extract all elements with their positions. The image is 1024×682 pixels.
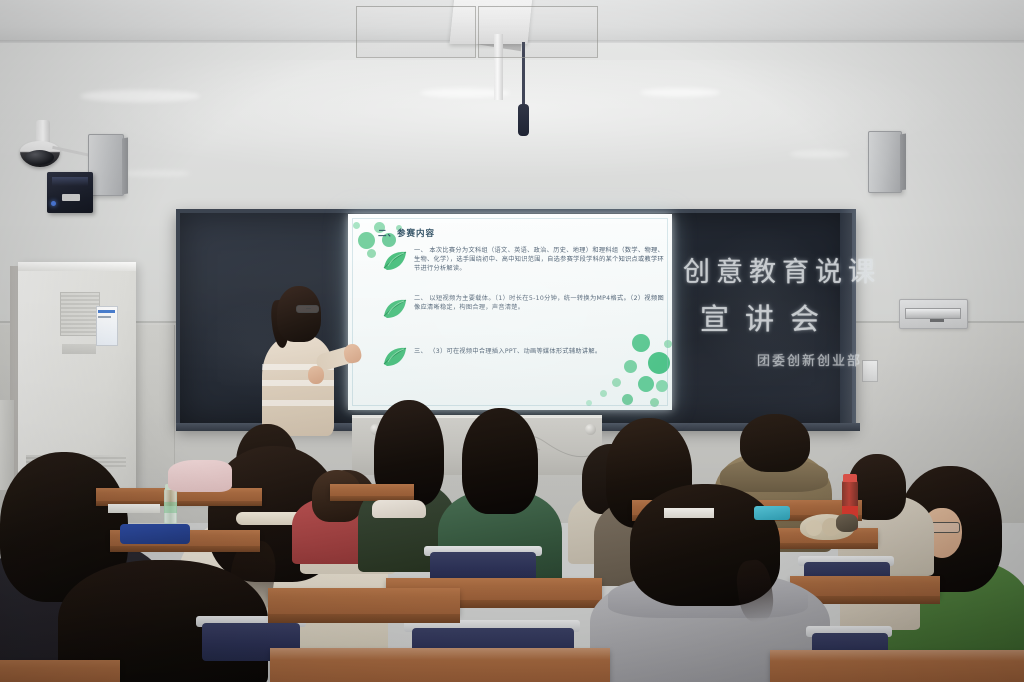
slide-bubbles-bottom-right: [562, 314, 672, 410]
bubble: [624, 360, 637, 373]
wall-reflection: [80, 90, 200, 102]
bubble: [664, 340, 672, 348]
desk[interactable]: [268, 588, 460, 614]
presenter-hair: [277, 286, 321, 342]
desk[interactable]: [790, 576, 940, 596]
blackboard-right-highlight: [840, 209, 856, 431]
presenter-torso: [262, 336, 334, 436]
av-control-box-label: [62, 194, 80, 201]
air-conditioner-pipe: [0, 400, 14, 490]
wall-reflection: [790, 150, 850, 158]
chalk-signature-line: 团委创新创业部: [757, 350, 862, 369]
leaf-icon: [382, 298, 408, 320]
chalk-title-line-2: 宣讲会: [700, 296, 835, 338]
bubble: [600, 390, 607, 397]
bubble: [353, 222, 360, 229]
bubble: [586, 400, 592, 406]
slide-paragraph-2: 二、 以短视频为主要载体。（1）时长在5-10分钟，统一转换为MP4格式。（2）…: [414, 294, 664, 312]
backpack[interactable]: [120, 524, 190, 544]
av-control-box-sheen: [52, 177, 88, 186]
notebook[interactable]: [664, 508, 714, 518]
desk[interactable]: [0, 660, 120, 682]
wall-light-switch[interactable]: [862, 360, 878, 382]
dome-camera-lens: [25, 150, 54, 165]
sweater-stripe: [262, 400, 334, 406]
jacket-on-desk[interactable]: [168, 460, 232, 492]
pencil-case[interactable]: [754, 506, 790, 520]
leaf-icon: [382, 250, 408, 272]
wall-access-panel-slot: [905, 308, 961, 319]
desk[interactable]: [270, 648, 610, 682]
leaf-icon: [382, 346, 408, 368]
av-control-box-led: [51, 201, 56, 206]
plush-toy-part: [836, 514, 858, 532]
wall-speaker-left: [88, 134, 124, 196]
desk-edge: [268, 614, 460, 623]
notebook[interactable]: [108, 504, 160, 513]
bubble: [612, 378, 621, 387]
air-conditioner-grille: [60, 292, 100, 336]
classroom-scene: 创意教育说课 宣讲会 团委创新创业部 二、参赛内容: [0, 0, 1024, 682]
projected-slide: 二、参赛内容 一、 本次比赛分为文科组（语文、英语、政治、历史、地理）和理科组（…: [348, 214, 672, 410]
water-bottle-label: [164, 502, 177, 513]
bubble: [622, 394, 633, 405]
desk[interactable]: [770, 650, 1024, 682]
air-conditioner-top: [18, 262, 136, 271]
papers-on-desk[interactable]: [372, 500, 426, 518]
desk-edge: [110, 546, 260, 552]
chalk-title-line-1: 创意教育说课: [683, 250, 881, 289]
slide-paragraph-3: 三、 （3）可在视频中合理插入PPT、动画等媒体形式辅助讲解。: [414, 347, 664, 356]
bubble: [367, 249, 376, 258]
wall-reflection: [640, 88, 720, 97]
student-hair: [740, 414, 810, 472]
student-hair: [462, 408, 538, 514]
energy-sticker-bar: [98, 316, 111, 318]
air-conditioner-label: [62, 344, 96, 354]
bubble: [638, 376, 654, 392]
sweater-stripe: [262, 380, 334, 386]
wall-access-panel-handle[interactable]: [930, 319, 944, 322]
wall-speaker-right: [868, 131, 902, 193]
cabinet-door-left[interactable]: [356, 6, 476, 58]
projector-pull-cord-weight[interactable]: [518, 104, 529, 136]
slide-paragraph-1: 一、 本次比赛分为文科组（语文、英语、政治、历史、地理）和理科组（数学、物理、生…: [414, 246, 664, 274]
bubble: [656, 380, 668, 392]
slide-heading: 二、参赛内容: [378, 227, 435, 239]
desk[interactable]: [330, 484, 414, 496]
energy-sticker-bar: [98, 310, 115, 313]
cola-bottle-cap[interactable]: [843, 474, 857, 482]
presenter-glasses: [296, 305, 319, 313]
presenter-hand: [308, 366, 324, 384]
plush-toy-part: [806, 520, 822, 536]
wall-reflection: [120, 170, 190, 177]
bubble: [650, 398, 659, 407]
bubble: [358, 232, 375, 249]
cabinet-door-right[interactable]: [478, 6, 598, 58]
